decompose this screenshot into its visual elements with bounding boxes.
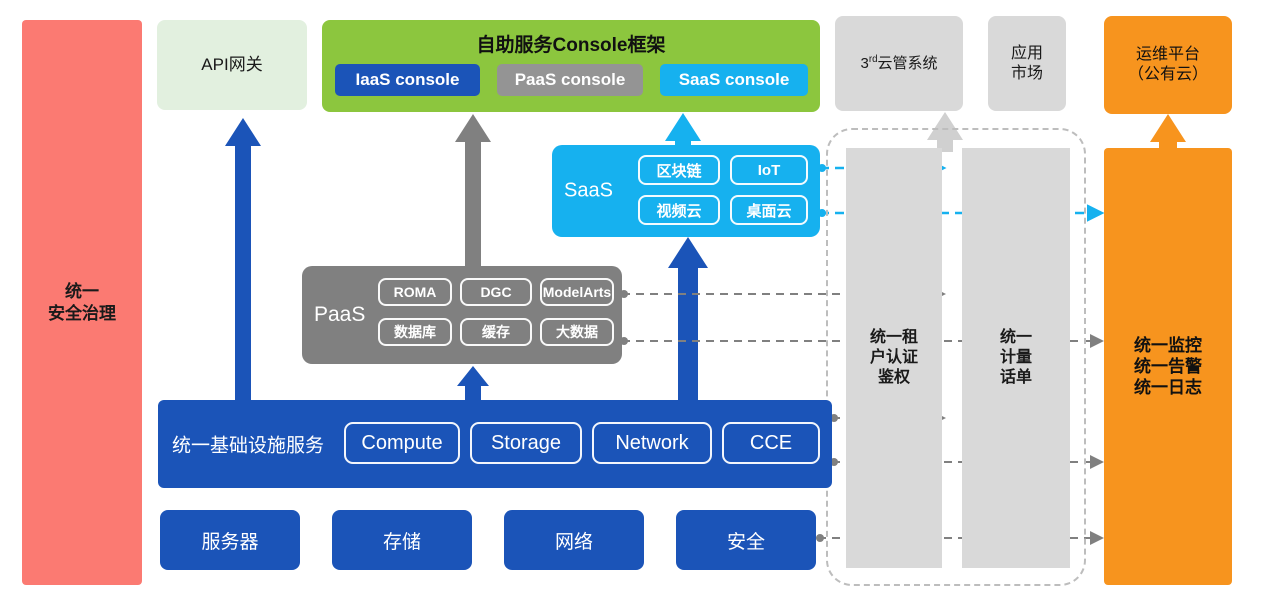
paas-item-modelarts[interactable]: ModelArts: [540, 278, 614, 306]
resource-box-server[interactable]: 服务器: [160, 510, 300, 570]
saas-group-label: SaaS: [564, 180, 613, 203]
unified-billing-column[interactable]: 统一 计量 话单: [962, 148, 1070, 568]
ops-monitor-pillar[interactable]: 统一监控 统一告警 统一日志: [1104, 148, 1232, 585]
security-governance-pillar[interactable]: 统一 安全治理: [22, 20, 142, 585]
self-service-console-frame[interactable]: 自助服务Console框架 IaaS console PaaS console …: [322, 20, 820, 112]
paas-item-database[interactable]: 数据库: [378, 318, 452, 346]
saas-block[interactable]: SaaS 区块链 IoT 视频云 桌面云: [552, 145, 820, 237]
saas-item-desktop-cloud[interactable]: 桌面云: [730, 195, 808, 225]
infra-item-storage[interactable]: Storage: [470, 422, 582, 464]
resource-box-network[interactable]: 网络: [504, 510, 644, 570]
third-party-cloud-mgmt-label: 3rd云管系统: [860, 54, 937, 74]
ops-monitor-label: 统一监控 统一告警 统一日志: [1134, 335, 1202, 399]
api-gateway-label: API网关: [201, 54, 262, 75]
paas-item-bigdata[interactable]: 大数据: [540, 318, 614, 346]
ops-platform-box[interactable]: 运维平台 （公有云）: [1104, 16, 1232, 114]
api-gateway-box[interactable]: API网关: [157, 20, 307, 110]
resource-box-security[interactable]: 安全: [676, 510, 816, 570]
infra-item-compute[interactable]: Compute: [344, 422, 460, 464]
unified-billing-label: 统一 计量 话单: [1000, 328, 1032, 388]
paas-block[interactable]: PaaS ROMA DGC ModelArts 数据库 缓存 大数据: [302, 266, 622, 364]
arrow-paas-to-console: [455, 114, 491, 266]
paas-item-cache[interactable]: 缓存: [460, 318, 532, 346]
unified-tenant-auth-column[interactable]: 统一租 户认证 鉴权: [846, 148, 942, 568]
paas-item-dgc[interactable]: DGC: [460, 278, 532, 306]
third-party-cloud-mgmt-box[interactable]: 3rd云管系统: [835, 16, 963, 111]
ops-platform-label: 运维平台 （公有云）: [1128, 45, 1208, 85]
arrow-infra-to-paas: [457, 366, 489, 400]
saas-item-iot[interactable]: IoT: [730, 155, 808, 185]
arrow-infra-to-saas: [668, 237, 708, 400]
paas-item-roma[interactable]: ROMA: [378, 278, 452, 306]
app-market-box[interactable]: 应用 市场: [988, 16, 1066, 111]
infrastructure-bar[interactable]: 统一基础设施服务 Compute Storage Network CCE: [158, 400, 832, 488]
app-market-label: 应用 市场: [1011, 44, 1043, 84]
arrow-saas-to-console: [665, 113, 701, 146]
console-frame-title: 自助服务Console框架: [322, 30, 820, 57]
architecture-diagram: 统一 安全治理 API网关 自助服务Console框架 IaaS console…: [0, 0, 1265, 605]
iaas-console-chip[interactable]: IaaS console: [335, 64, 480, 96]
paas-console-chip[interactable]: PaaS console: [497, 64, 643, 96]
paas-group-label: PaaS: [314, 303, 365, 327]
infra-item-network[interactable]: Network: [592, 422, 712, 464]
arrow-infra-to-api-gateway: [225, 118, 261, 400]
infra-item-cce[interactable]: CCE: [722, 422, 820, 464]
resource-box-storage[interactable]: 存储: [332, 510, 472, 570]
security-governance-label: 统一 安全治理: [48, 281, 116, 324]
unified-tenant-auth-label: 统一租 户认证 鉴权: [870, 328, 918, 388]
saas-item-blockchain[interactable]: 区块链: [638, 155, 720, 185]
infrastructure-group-label: 统一基础设施服务: [172, 431, 324, 458]
saas-console-chip[interactable]: SaaS console: [660, 64, 808, 96]
arrow-monitor-to-ops-platform: [1150, 114, 1186, 150]
saas-item-video-cloud[interactable]: 视频云: [638, 195, 720, 225]
